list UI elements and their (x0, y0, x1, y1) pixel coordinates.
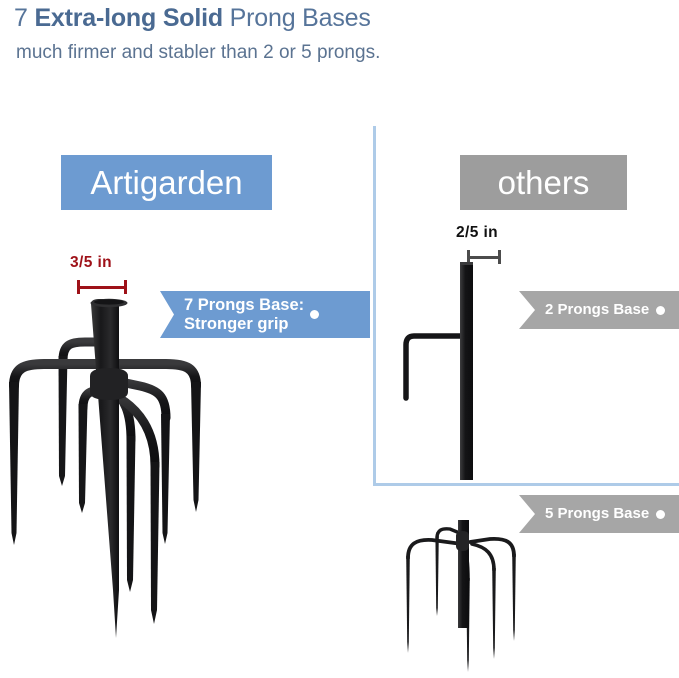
measurement-label-two-fifths: 2/5 in (456, 224, 498, 242)
title-emphasis: Extra-long Solid (34, 4, 222, 32)
callout-ribbon-seven-prongs: 7 Prongs Base: Stronger grip (160, 291, 370, 338)
vertical-divider (373, 126, 376, 485)
callout-ribbon-seven-prongs-label: 7 Prongs Base: Stronger grip (184, 296, 304, 333)
callout-ribbon-two-prongs-label: 2 Prongs Base (545, 302, 649, 319)
product-image-two-prong (392, 258, 522, 486)
page-subtitle: much firmer and stabler than 2 or 5 pron… (16, 42, 380, 64)
title-suffix: Prong Bases (223, 4, 371, 32)
title-prefix: 7 (14, 4, 34, 32)
callout-ribbon-five-prongs-label: 5 Prongs Base (545, 506, 649, 523)
product-image-five-prong (390, 520, 580, 678)
bullet-dot-icon (656, 510, 665, 519)
brand-badge-others-label: others (498, 164, 590, 202)
infographic-root: 7 Extra-long Solid Prong Bases much firm… (0, 0, 679, 678)
callout-ribbon-two-prongs: 2 Prongs Base (519, 291, 679, 329)
brand-badge-artigarden-label: Artigarden (90, 164, 242, 202)
page-title: 7 Extra-long Solid Prong Bases (14, 4, 371, 33)
bullet-dot-icon (656, 306, 665, 315)
measurement-label-three-fifths: 3/5 in (70, 254, 112, 272)
brand-badge-artigarden: Artigarden (61, 155, 272, 210)
product-image-seven-prong (0, 290, 232, 650)
brand-badge-others: others (460, 155, 627, 210)
